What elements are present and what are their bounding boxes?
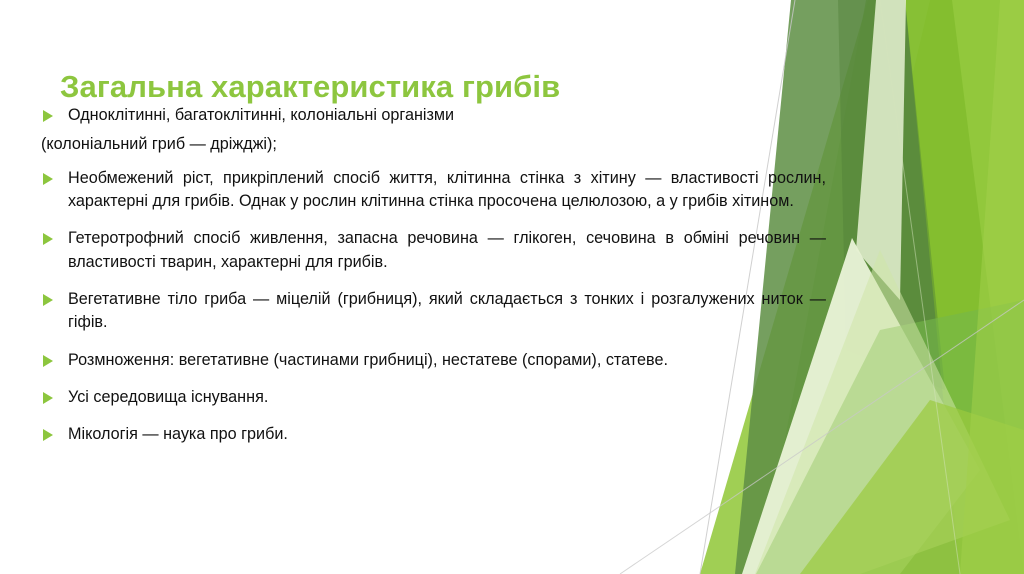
list-item-text: Усі середовища існування. <box>68 386 826 409</box>
triangle-right-icon <box>36 349 68 367</box>
list-item: Вегетативне тіло гриба — міцелій (грибни… <box>36 288 826 335</box>
triangle-right-icon <box>36 167 68 185</box>
triangle-right-icon <box>36 386 68 404</box>
triangle-right-icon <box>36 288 68 306</box>
list-item: Гетеротрофний спосіб живлення, запасна р… <box>36 227 826 274</box>
triangle-right-icon <box>36 104 68 122</box>
list-item: Усі середовища існування. <box>36 386 826 409</box>
deco-shape-pale-sliver <box>856 0 906 300</box>
slide-title: Загальна характеристика грибів <box>60 69 560 105</box>
deco-shape-bottom-wash <box>800 400 1024 574</box>
list-item: Одноклітинні, багатоклітинні, колоніальн… <box>36 104 826 127</box>
deco-shape-base-right <box>795 0 1024 574</box>
deco-hairline-inner <box>880 0 960 574</box>
list-item-text: Необмежений ріст, прикріплений спосіб жи… <box>68 167 826 214</box>
list-item: Необмежений ріст, прикріплений спосіб жи… <box>36 167 826 214</box>
list-item-continuation: (колоніальний гриб — дріжджі); <box>41 133 826 156</box>
deco-shape-right-highlight <box>960 0 1024 574</box>
list-item-text: Розмноження: вегетативне (частинами гриб… <box>68 349 826 372</box>
deco-shape-dark-overlay <box>838 0 945 390</box>
list-item-text: Одноклітинні, багатоклітинні, колоніальн… <box>68 104 826 127</box>
list-item: Мікологія — наука про гриби. <box>36 423 826 446</box>
triangle-right-icon <box>36 423 68 441</box>
triangle-right-icon <box>36 227 68 245</box>
list-item: Розмноження: вегетативне (частинами гриб… <box>36 349 826 372</box>
list-item-text: Гетеротрофний спосіб живлення, запасна р… <box>68 227 826 274</box>
list-item-text: Мікологія — наука про гриби. <box>68 423 826 446</box>
bullet-list: Одноклітинні, багатоклітинні, колоніальн… <box>36 104 826 449</box>
list-item-text: Вегетативне тіло гриба — міцелій (грибни… <box>68 288 826 335</box>
slide-canvas: Загальна характеристика грибів Однокліти… <box>0 0 1024 574</box>
